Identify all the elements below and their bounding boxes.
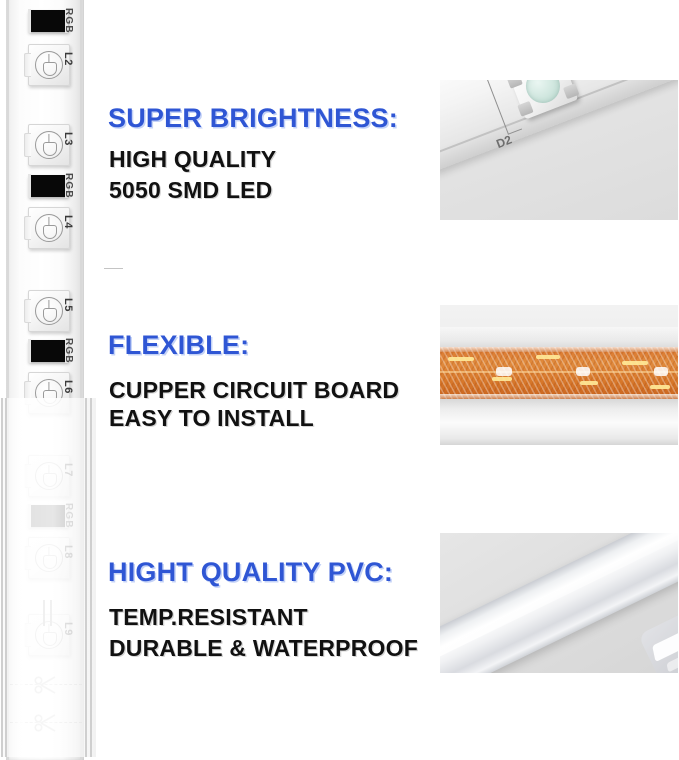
led-lens (35, 297, 63, 325)
rgb-driver-ic (28, 175, 68, 197)
pvc-sleeve-open-end (638, 607, 678, 673)
ic-solder-pad (28, 174, 68, 198)
sleeve-gloss-highlight (9, 398, 25, 757)
ic-solder-pad (28, 339, 68, 363)
pvc-tube-lower-wall (440, 399, 678, 445)
copper-highlight (496, 367, 512, 376)
feature-line-easy-to-install: EASY TO INSTALL (109, 405, 314, 432)
solder-pad (517, 101, 533, 117)
copper-sparkle (448, 357, 474, 361)
sleeve-rail (1, 398, 3, 757)
rgb-ic-label: RGB (63, 338, 74, 364)
feature-line-cupper-circuit-board: CUPPER CIRCUIT BOARD (109, 377, 399, 404)
smd-5050-chip (508, 80, 578, 119)
copper-highlight (576, 367, 590, 376)
silkscreen-label-d2: D2 (494, 132, 513, 151)
led-label-l4: L4 (62, 215, 74, 229)
copper-top-edge (440, 347, 678, 352)
led-label-l5: L5 (62, 298, 74, 312)
pvc-sleeve-overlay (0, 398, 96, 757)
pvc-tube-upper-wall (440, 327, 678, 349)
led-macro-photo: R11 D2 + (440, 80, 678, 220)
sleeve-rail (90, 398, 92, 757)
led-label-l2: L2 (62, 52, 74, 66)
pvc-end-flare (652, 626, 678, 662)
led-lens (35, 214, 63, 242)
copper-circuit-board (440, 347, 678, 399)
rgb-ic-label: RGB (63, 8, 74, 34)
feature-line-high-quality: HIGH QUALITY (109, 146, 276, 173)
copper-mid-trace (440, 371, 678, 373)
sleeve-rail (85, 398, 87, 757)
feature-heading-hight-quality-pvc: HIGHT QUALITY PVC: (108, 557, 393, 588)
solder-pad (563, 83, 579, 99)
led-lens (35, 51, 63, 79)
pcb-substrate: R11 D2 + (440, 80, 678, 172)
rgb-driver-ic (28, 340, 68, 362)
copper-sparkle (492, 377, 512, 381)
led-label-l6: L6 (62, 380, 74, 394)
feature-line-durable-waterproof: DURABLE & WATERPROOF (109, 635, 418, 662)
led-solder-tab (24, 53, 31, 77)
feature-heading-super-brightness: SUPER BRIGHTNESS: (108, 103, 398, 134)
feature-heading-flexible: FLEXIBLE: (108, 330, 249, 361)
pvc-sleeve-photo (440, 533, 678, 673)
led-label-l3: L3 (62, 132, 74, 146)
pvc-sleeve-tube (440, 533, 678, 673)
rgb-driver-ic (28, 10, 68, 32)
sleeve-rail (5, 398, 7, 757)
led-solder-tab (24, 216, 31, 240)
ic-solder-pad (28, 9, 68, 33)
copper-sparkle (580, 381, 598, 385)
copper-circuit-photo (440, 305, 678, 445)
led-solder-tab (24, 299, 31, 323)
feature-line-temp-resistant: TEMP.RESISTANT (109, 604, 308, 631)
copper-highlight (654, 367, 668, 376)
led-solder-tab (24, 133, 31, 157)
feature-line-5050-smd-led: 5050 SMD LED (109, 177, 272, 204)
section-divider (104, 268, 123, 269)
solder-pad (506, 80, 522, 89)
copper-sparkle (650, 385, 670, 389)
rgb-ic-label: RGB (63, 173, 74, 199)
led-lens (35, 131, 63, 159)
copper-sparkle (536, 355, 560, 359)
copper-sparkle (622, 361, 648, 365)
